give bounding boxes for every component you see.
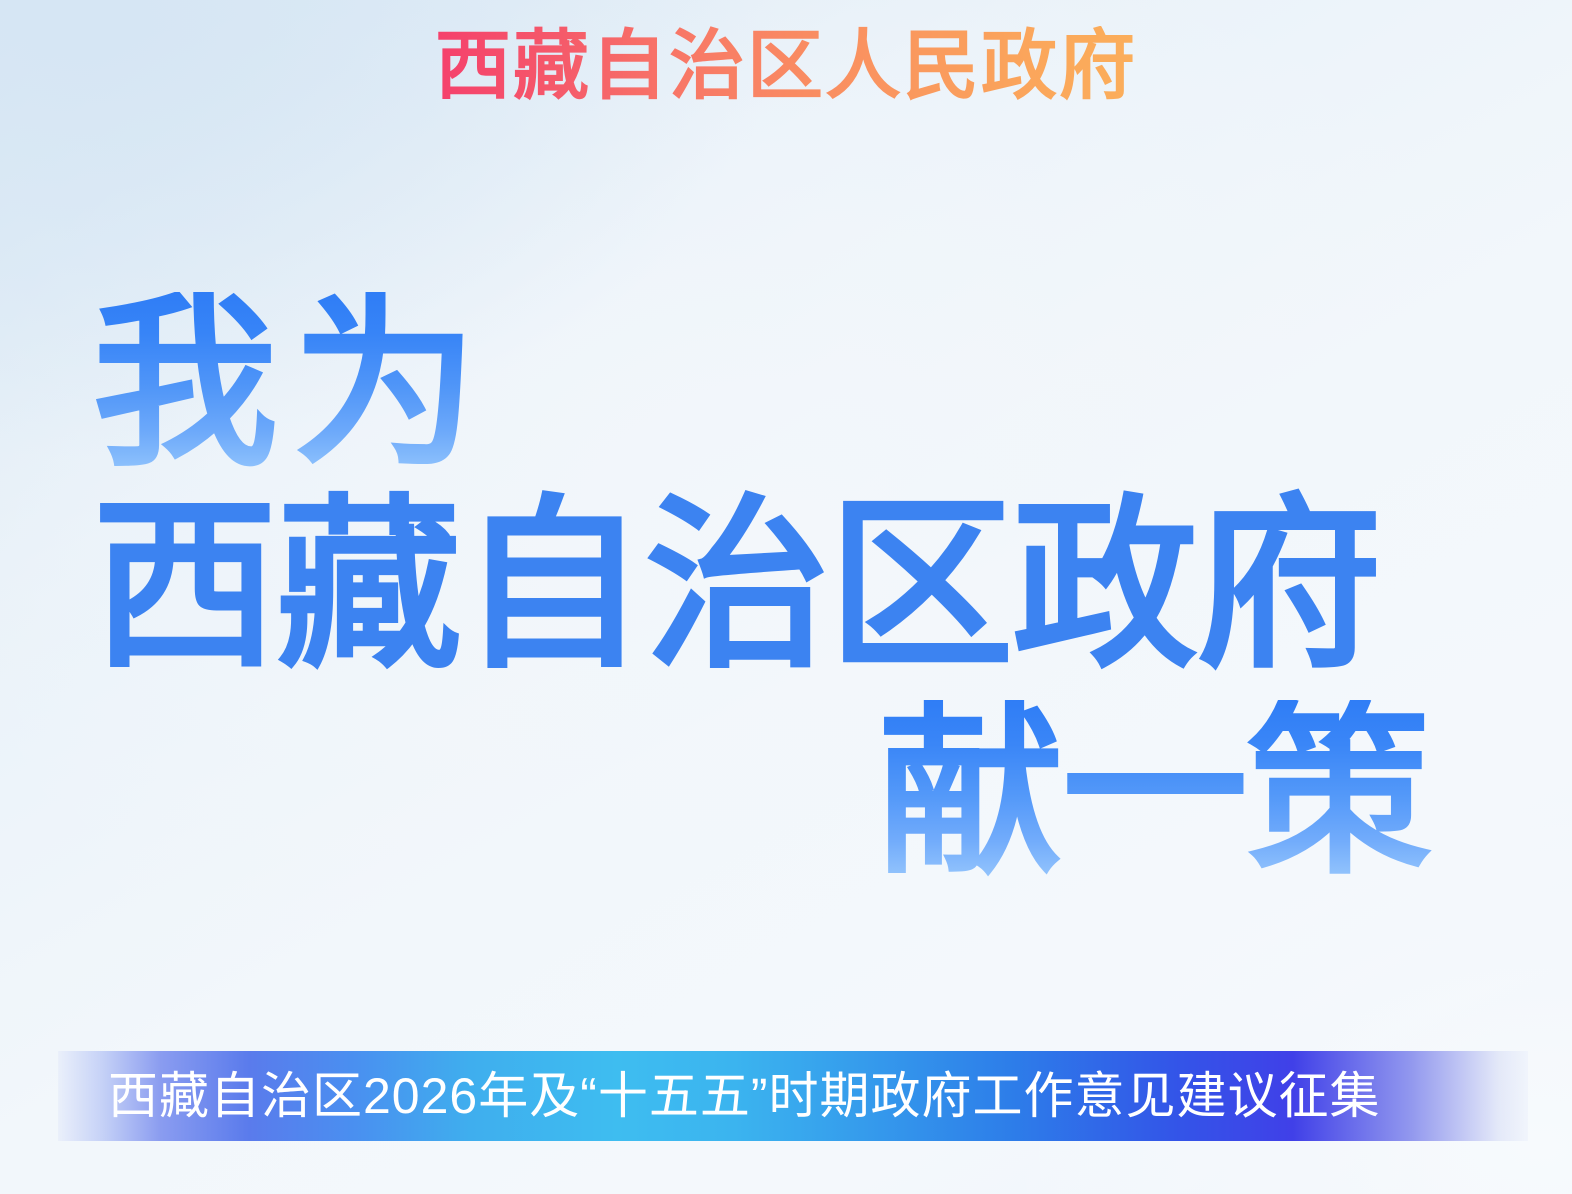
main-title-line-2: 西藏自治区政府 (92, 494, 1572, 680)
header: 西藏自治区人民政府 (0, 26, 1572, 108)
bottom-banner: 西藏自治区2026年及“十五五”时期政府工作意见建议征集 (58, 1051, 1528, 1141)
banner-subtitle-text: 西藏自治区2026年及“十五五”时期政府工作意见建议征集 (108, 1068, 1381, 1124)
poster-canvas: 西藏自治区人民政府 我为 西藏自治区政府 献一策 西藏自治区2026年及“十五五… (0, 0, 1572, 1194)
main-title-block: 我为 西藏自治区政府 献一策 (0, 292, 1572, 886)
government-name-title: 西藏自治区人民政府 (435, 26, 1137, 108)
main-title-line-1: 我为 (92, 292, 1572, 478)
main-title-line-3: 献一策 (878, 700, 1572, 886)
